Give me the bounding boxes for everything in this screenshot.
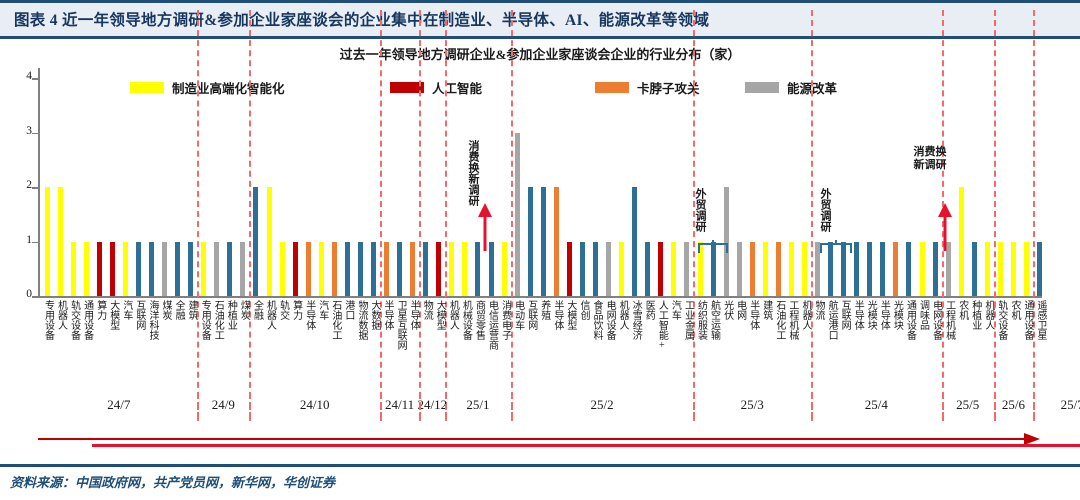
bar (502, 242, 507, 297)
x-tick-label: 石油化工 (212, 300, 223, 340)
bar (776, 242, 781, 297)
month-label: 25/3 (741, 397, 764, 413)
x-tick-label: 电网 (734, 300, 745, 320)
x-tick-label: 物流 (421, 300, 432, 320)
month-label: 25/1 (466, 397, 489, 413)
x-tick-label: 商贸零售 (473, 300, 484, 340)
arrow-up-icon (478, 203, 492, 251)
month-separator-tick (445, 393, 447, 421)
bar (972, 242, 977, 297)
page-title: 图表 4 近一年领导地方调研&参加企业家座谈会的企业集中在制造业、半导体、AI、… (14, 8, 709, 30)
x-tick-label: 汽车 (120, 300, 131, 320)
bar (933, 242, 938, 297)
x-tick-label: 航运港口 (826, 300, 837, 340)
y-tick-label: 4 (12, 71, 32, 83)
x-axis (38, 296, 1042, 298)
bar (227, 242, 232, 297)
bar (84, 242, 89, 297)
bar (397, 242, 402, 297)
month-label: 24/7 (107, 397, 130, 413)
x-tick-label: 农机 (956, 300, 967, 320)
bar (358, 242, 363, 297)
x-tick-label: 煤炭 (160, 300, 171, 320)
y-tick-label: 1 (12, 235, 32, 247)
x-tick-label: 遥感卫星 (1035, 300, 1046, 340)
x-tick-label: 纺织服装 (695, 300, 706, 340)
x-tick-label: 电网设备 (604, 300, 615, 340)
y-tick (32, 296, 39, 298)
y-tick (32, 78, 39, 80)
x-tick-label: 调味品 (917, 300, 928, 330)
x-tick-label: 消费电子 (499, 300, 510, 340)
x-tick-label: 光伏 (721, 300, 732, 320)
bar (671, 242, 676, 297)
header-divider (0, 36, 1080, 39)
bar (123, 242, 128, 297)
x-tick-label: 算力 (94, 300, 105, 320)
bar (593, 242, 598, 297)
bar (449, 242, 454, 297)
bar (985, 242, 990, 297)
bar (684, 242, 689, 297)
y-tick (32, 242, 39, 244)
x-tick-label: 电网设备 (930, 300, 941, 340)
bar (149, 242, 154, 297)
x-tick-label: 互联网 (133, 300, 144, 330)
bar (880, 242, 885, 297)
x-tick-label: 农机 (1008, 300, 1019, 320)
x-tick-label: 轨交设备 (995, 300, 1006, 340)
x-tick-label: 航空运输 (708, 300, 719, 340)
bar (175, 242, 180, 297)
bar (384, 242, 389, 297)
x-tick-label: 人工智能+ (656, 300, 667, 351)
bar (802, 242, 807, 297)
x-tick-label: 海洋科技 (146, 300, 157, 340)
brace-icon (698, 240, 728, 254)
bar (1011, 242, 1016, 297)
x-tick-label: 物流数据 (355, 300, 366, 340)
bar (515, 133, 520, 297)
x-tick-label: 半导体 (878, 300, 889, 330)
bar (1024, 242, 1029, 297)
x-tick-label: 卫星互联网 (395, 300, 406, 350)
x-tick-label: 半导体 (852, 300, 863, 330)
bar (645, 242, 650, 297)
bar (750, 242, 755, 297)
month-label: 25/4 (865, 397, 888, 413)
bar (136, 242, 141, 297)
x-tick-label: 机械设备 (460, 300, 471, 340)
x-tick-label: 种植业 (969, 300, 980, 330)
bar (410, 242, 415, 297)
plot-area: 01234 消费换新调研外贸调研外贸调研消费换新调研 (38, 68, 1042, 298)
x-tick-label: 冰雪经济 (630, 300, 641, 340)
month-separator-tick (942, 393, 944, 421)
x-tick-label: 通用设备 (81, 300, 92, 340)
month-separator-tick (693, 393, 695, 421)
month-separator-tick (994, 393, 996, 421)
bar (1037, 242, 1042, 297)
x-tick-label: 机器人 (799, 300, 810, 330)
x-tick-label: 大数据 (369, 300, 380, 330)
x-tick-label: 半导体 (408, 300, 419, 330)
y-tick-label: 0 (12, 289, 32, 301)
bar (280, 242, 285, 297)
month-label: 25/7 (1061, 397, 1080, 413)
chart-title: 过去一年领导地方调研企业&参加企业家座谈会企业的行业分布（家） (0, 44, 1080, 63)
x-tick-label: 半导体 (382, 300, 393, 330)
bar (345, 242, 350, 297)
bar (58, 187, 63, 296)
x-tick-label: 互联网 (839, 300, 850, 330)
source-note: 资料来源：中国政府网，共产党员网，新华网，华创证券 (10, 472, 335, 491)
y-tick (32, 133, 39, 135)
x-tick-label: 食品饮料 (591, 300, 602, 340)
bar (97, 242, 102, 297)
month-separator-tick (419, 393, 421, 421)
bar (162, 242, 167, 297)
x-tick-label: 全融 (251, 300, 262, 320)
bar (554, 187, 559, 296)
month-label: 24/10 (300, 397, 330, 413)
month-label: 24/12 (417, 397, 447, 413)
x-tick-label: 通用设备 (904, 300, 915, 340)
bar (959, 187, 964, 296)
x-tick-label: 种植业 (225, 300, 236, 330)
bar (789, 242, 794, 297)
x-tick-label: 大模型 (434, 300, 445, 330)
bar (541, 187, 546, 296)
x-tick-label: 养殖 (538, 300, 549, 320)
bar (893, 242, 898, 297)
y-axis (38, 68, 40, 298)
x-tick-label: 互联网 (525, 300, 536, 330)
bar (188, 242, 193, 297)
x-tick-label: 机器人 (617, 300, 628, 330)
x-tick-label: 机器人 (55, 300, 66, 330)
month-separator-tick (197, 393, 199, 421)
bar (737, 242, 742, 297)
bar (867, 242, 872, 297)
bar (763, 242, 768, 297)
bar (332, 242, 337, 297)
bar (240, 242, 245, 297)
bar (462, 242, 467, 297)
bar (906, 242, 911, 297)
x-tick-label: 石油化工 (329, 300, 340, 340)
x-tick-label: 光模块 (865, 300, 876, 330)
y-tick-label: 3 (12, 126, 32, 138)
bar (45, 187, 50, 296)
month-label: 25/2 (590, 397, 613, 413)
month-label: 25/5 (956, 397, 979, 413)
x-tick-label: 医药 (643, 300, 654, 320)
x-tick-label: 半导体 (551, 300, 562, 330)
bar (436, 242, 441, 297)
x-tick-label: 电动车 (512, 300, 523, 330)
x-tick-label: 半导体 (303, 300, 314, 330)
y-tick (32, 187, 39, 189)
month-label: 25/6 (1002, 397, 1025, 413)
x-tick-label: 大模型 (564, 300, 575, 330)
x-tick-label: 大模型 (107, 300, 118, 330)
x-tick-label: 半导体 (747, 300, 758, 330)
bar (998, 242, 1003, 297)
annotation-label: 外贸调研 (693, 188, 706, 224)
x-tick-label: 煤炭 (238, 300, 249, 320)
bar (214, 242, 219, 297)
x-tick-label: 港口 (342, 300, 353, 320)
x-tick-label: 轨交 (277, 300, 288, 320)
bar (319, 242, 324, 297)
x-tick-label: 建筑 (186, 300, 197, 320)
bar (567, 242, 572, 297)
x-tick-label: 光模块 (891, 300, 902, 330)
month-separator-tick (380, 393, 382, 421)
bar (371, 242, 376, 297)
x-tick-label: 机器人 (982, 300, 993, 330)
x-tick-label: 专用设备 (199, 300, 210, 340)
x-tick-label: 汽车 (669, 300, 680, 320)
bar (920, 242, 925, 297)
annotation-label: 消费换新调研 (466, 140, 479, 200)
x-tick-label: 工业金属 (682, 300, 693, 340)
bar (201, 242, 206, 297)
x-tick-label: 专用设备 (42, 300, 53, 340)
month-separator-tick (1033, 393, 1035, 421)
bar (580, 242, 585, 297)
bar (71, 242, 76, 297)
arrow-up-icon (938, 203, 952, 251)
annotation-label: 消费换新调研 (912, 146, 948, 172)
bar (606, 242, 611, 297)
bar (306, 242, 311, 297)
month-group-labels: 24/724/924/1024/1124/1225/125/225/325/42… (38, 397, 1042, 421)
x-tick-label: 算力 (290, 300, 301, 320)
x-tick-label: 机器人 (447, 300, 458, 330)
x-tick-label: 全融 (173, 300, 184, 320)
month-separator-tick (811, 393, 813, 421)
footer-divider-red (92, 444, 1080, 447)
bar (293, 242, 298, 297)
annotation-label: 外贸调研 (818, 188, 831, 224)
month-separator-tick (249, 393, 251, 421)
x-tick-label: 轨交设备 (68, 300, 79, 340)
bar (632, 187, 637, 296)
x-tick-label: 机器人 (264, 300, 275, 330)
x-tick-label: 通用设备 (1022, 300, 1033, 340)
y-tick-label: 2 (12, 180, 32, 192)
month-separator-tick (511, 393, 513, 421)
bar (423, 242, 428, 297)
month-label: 24/9 (212, 397, 235, 413)
x-tick-label: 工程机械 (786, 300, 797, 340)
x-tick-label: 汽车 (316, 300, 327, 320)
x-axis-labels: 专用设备机器人轨交设备通用设备算力大模型汽车互联网海洋科技煤炭全融建筑专用设备石… (38, 300, 1042, 392)
x-tick-label: 信创 (577, 300, 588, 320)
bar (110, 242, 115, 297)
month-label: 24/11 (385, 397, 414, 413)
x-tick-label: 电信运营商 (486, 300, 497, 350)
footer-divider-blue (0, 464, 1080, 467)
bar (267, 187, 272, 296)
bar (658, 242, 663, 297)
brace-icon (820, 240, 852, 254)
x-tick-label: 工程机械 (943, 300, 954, 340)
x-tick-label: 石油化工 (773, 300, 784, 340)
bar (253, 187, 258, 296)
bar (619, 242, 624, 297)
bar (854, 242, 859, 297)
x-tick-label: 物流 (813, 300, 824, 320)
x-tick-label: 建筑 (760, 300, 771, 320)
bar (528, 187, 533, 296)
